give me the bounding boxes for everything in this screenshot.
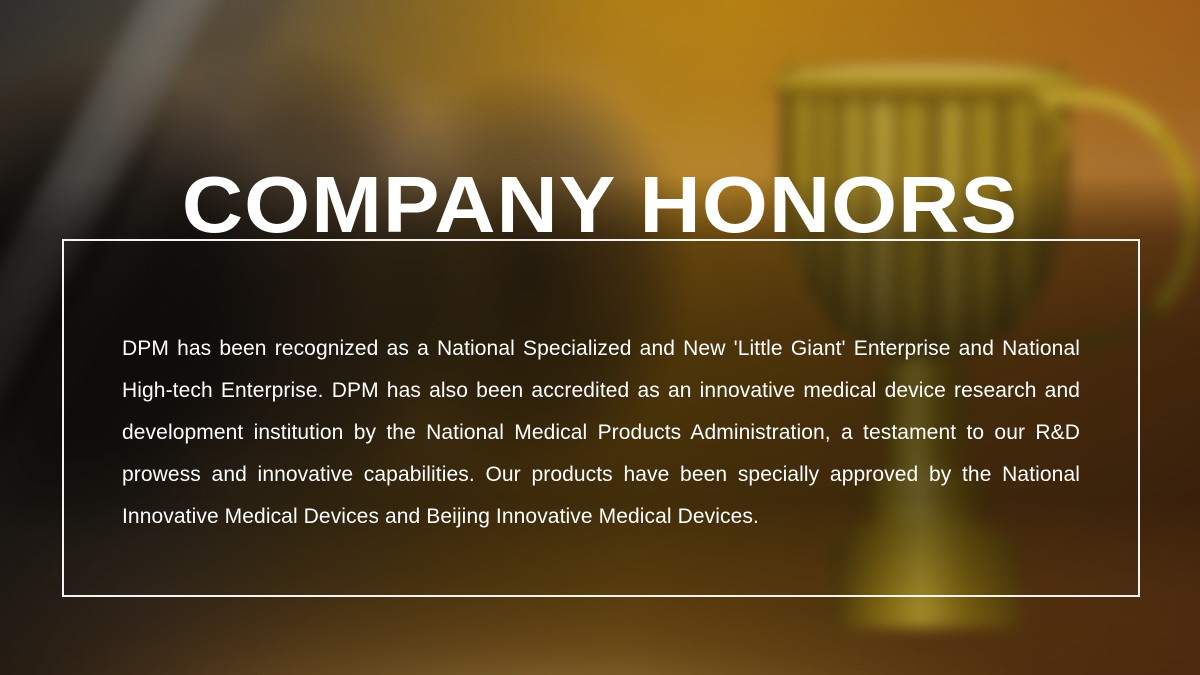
body-paragraph: DPM has been recognized as a National Sp…	[122, 328, 1080, 538]
company-honors-slide: COMPANY HONORS DPM has been recognized a…	[0, 0, 1200, 675]
page-title: COMPANY HONORS	[0, 162, 1200, 248]
slide-content: COMPANY HONORS DPM has been recognized a…	[0, 0, 1200, 675]
